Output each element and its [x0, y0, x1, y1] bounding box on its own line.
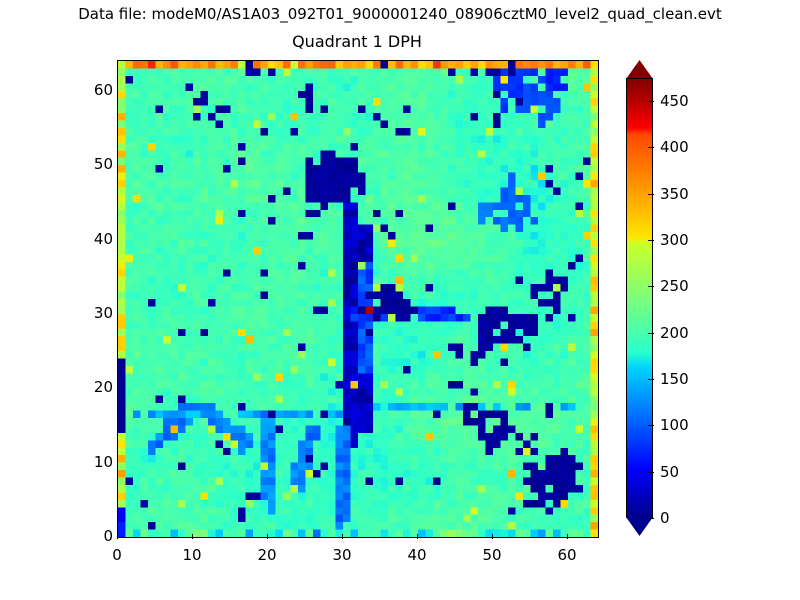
x-tick-label: 10 — [162, 546, 222, 564]
x-tick-label: 50 — [462, 546, 522, 564]
colorbar-tick-mark — [648, 240, 654, 241]
colorbar-tick-label: 450 — [660, 92, 689, 110]
colorbar-gradient — [627, 79, 652, 517]
colorbar-tick-label: 350 — [660, 185, 689, 203]
colorbar-tick-mark — [648, 379, 654, 380]
colorbar-tick-label: 100 — [660, 416, 689, 434]
colorbar-tick-label: 250 — [660, 277, 689, 295]
x-tick-label: 20 — [237, 546, 297, 564]
colorbar-tick-label: 400 — [660, 138, 689, 156]
x-tick-mark — [267, 534, 268, 539]
x-tick-label: 0 — [87, 546, 147, 564]
colorbar-tick-mark — [648, 518, 654, 519]
heatmap-plot-area[interactable] — [117, 60, 599, 538]
axes-title: Quadrant 1 DPH — [117, 32, 597, 51]
figure-suptitle: Data file: modeM0/AS1A03_092T01_90000012… — [0, 5, 800, 23]
x-tick-mark — [192, 534, 193, 539]
colorbar-body — [626, 78, 653, 518]
colorbar-over-arrow — [626, 60, 653, 79]
y-tick-label: 20 — [69, 378, 113, 396]
colorbar-tick-mark — [648, 286, 654, 287]
colorbar-tick-label: 200 — [660, 324, 689, 342]
x-tick-label: 30 — [312, 546, 372, 564]
colorbar-tick-label: 0 — [660, 509, 670, 527]
x-axis-ticks: 0102030405060 — [117, 538, 597, 578]
y-tick-label: 30 — [69, 304, 113, 322]
x-tick-mark — [342, 534, 343, 539]
colorbar-tick-mark — [648, 194, 654, 195]
x-tick-mark — [567, 534, 568, 539]
y-tick-label: 10 — [69, 453, 113, 471]
x-tick-mark — [417, 534, 418, 539]
heatmap-image — [118, 61, 598, 537]
colorbar-tick-label: 50 — [660, 463, 679, 481]
colorbar-tick-mark — [648, 333, 654, 334]
x-tick-label: 40 — [387, 546, 447, 564]
figure-canvas: Data file: modeM0/AS1A03_092T01_90000012… — [0, 0, 800, 600]
colorbar-tick-mark — [648, 472, 654, 473]
colorbar-tick-label: 300 — [660, 231, 689, 249]
colorbar[interactable]: 050100150200250300350400450 — [626, 60, 653, 536]
x-tick-mark — [117, 534, 118, 539]
y-tick-label: 60 — [69, 81, 113, 99]
colorbar-tick-mark — [648, 101, 654, 102]
y-tick-label: 50 — [69, 155, 113, 173]
y-axis-ticks: 0102030405060 — [60, 60, 113, 536]
colorbar-tick-mark — [648, 425, 654, 426]
colorbar-tick-label: 150 — [660, 370, 689, 388]
colorbar-under-arrow — [626, 517, 653, 536]
y-tick-label: 40 — [69, 230, 113, 248]
colorbar-tick-mark — [648, 147, 654, 148]
y-tick-label: 0 — [69, 527, 113, 545]
x-tick-label: 60 — [537, 546, 597, 564]
x-tick-mark — [492, 534, 493, 539]
